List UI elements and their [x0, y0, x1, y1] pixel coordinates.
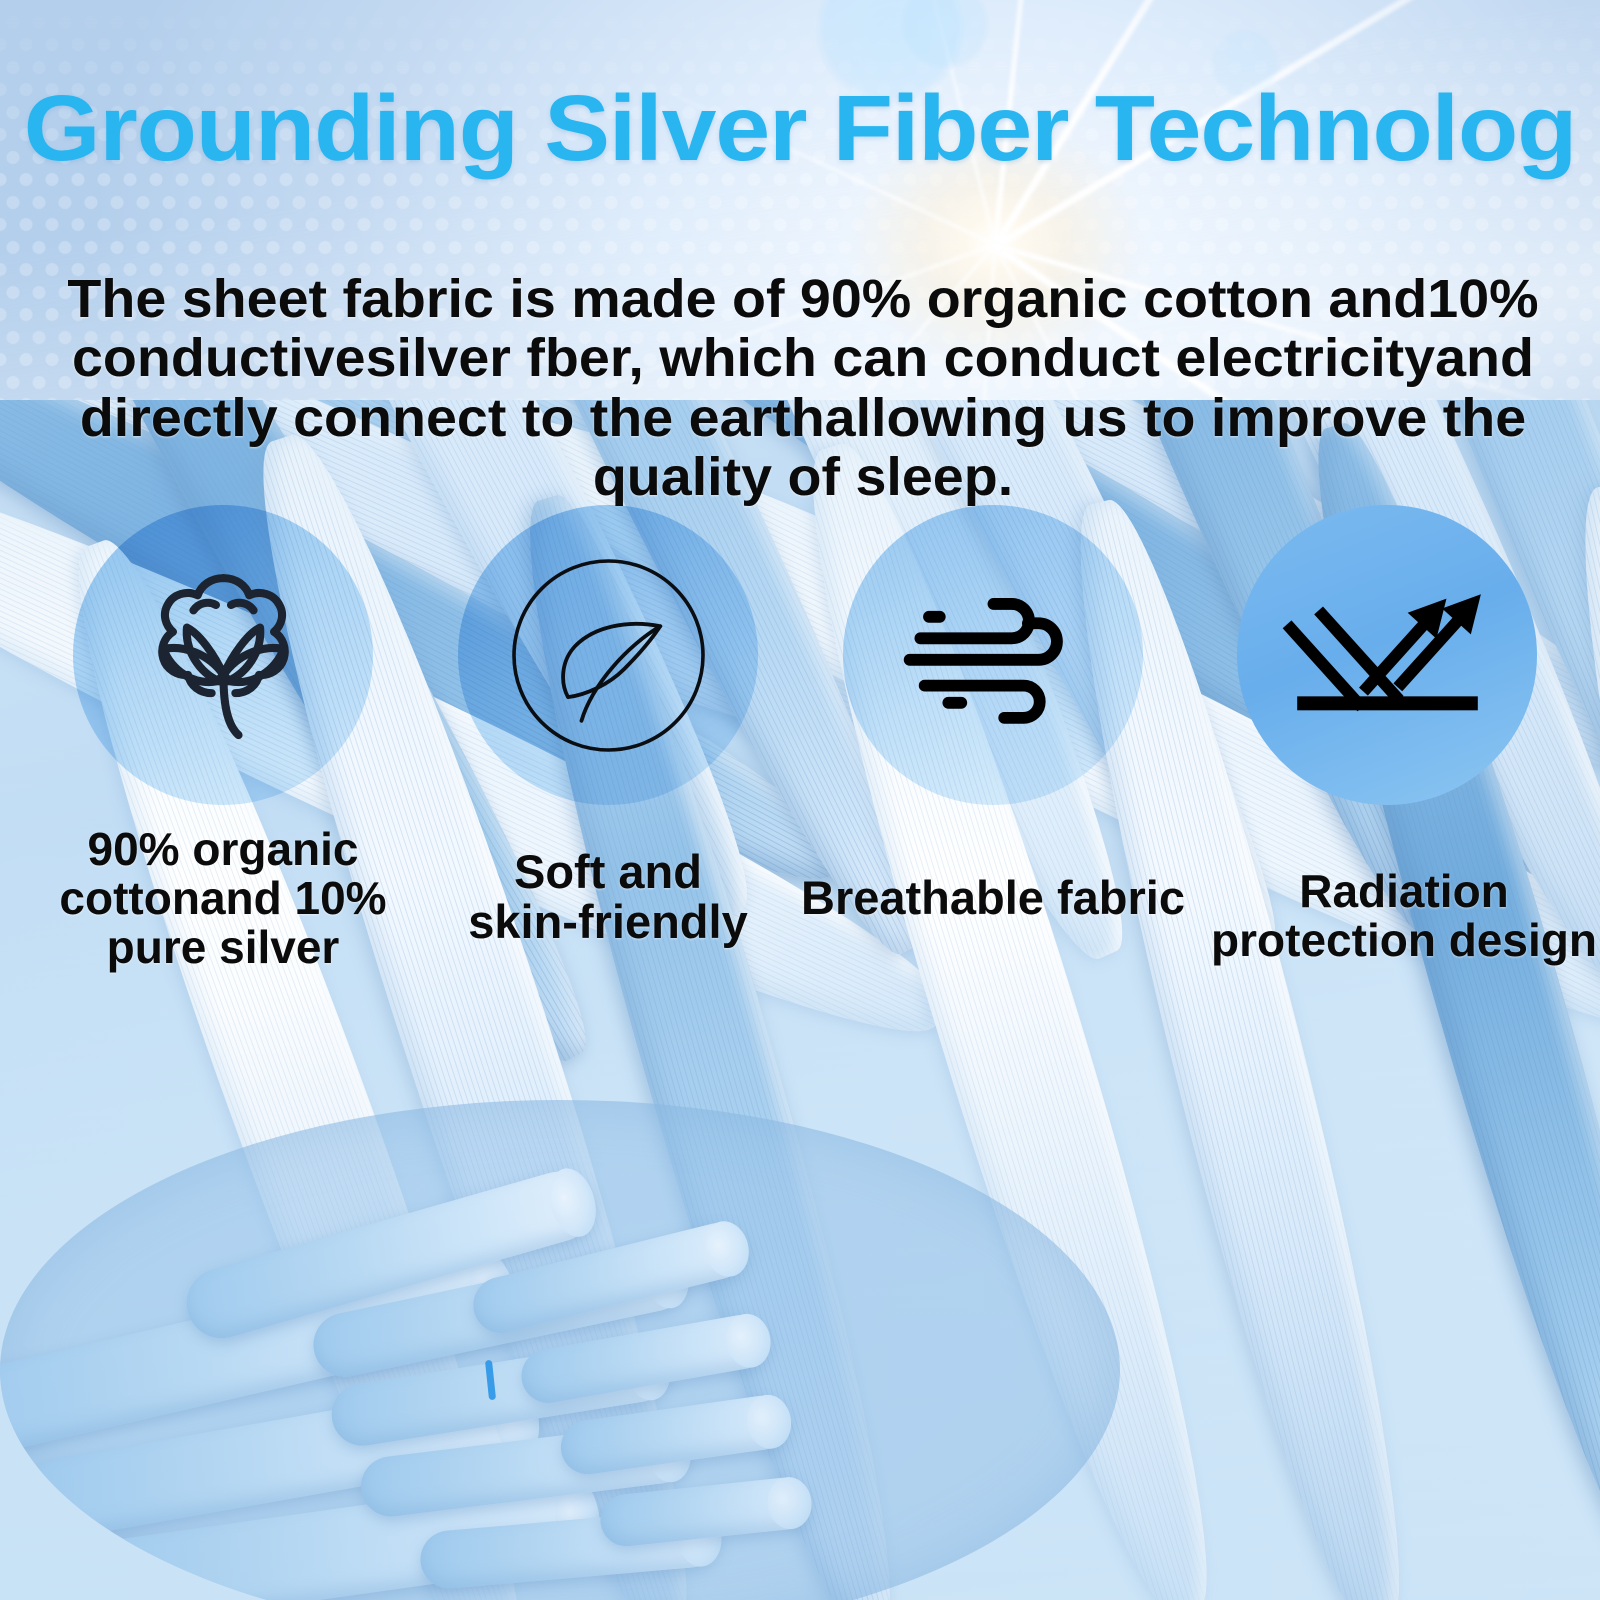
page-title: Grounding Silver Fiber Technolog	[0, 82, 1600, 175]
feature-label: Radiation protection design	[1204, 867, 1600, 965]
fiber-strand	[0, 1248, 522, 1458]
wind-airflow-icon	[843, 505, 1143, 805]
fiber-strand	[327, 1336, 673, 1450]
feature-label: Soft and skin-friendly	[443, 847, 773, 947]
radiation-reflection-icon	[1237, 505, 1537, 805]
fiber-strand	[178, 1163, 601, 1346]
fiber-strand	[358, 1420, 693, 1520]
feature-list: 90% organic cottonand 10% pure silver So…	[0, 495, 1600, 975]
fiber-strand	[517, 1311, 773, 1408]
fiber-strand	[17, 1375, 543, 1544]
fiber-strand	[307, 1241, 692, 1383]
fiber-strand	[467, 1217, 752, 1339]
leaf-in-circle-icon	[458, 505, 758, 805]
fiber-strand	[57, 1473, 604, 1600]
feature-label: Breathable fabric	[783, 873, 1203, 923]
fiber-bundle-inset	[0, 1100, 1120, 1600]
fiber-highlight-mark	[485, 1360, 496, 1401]
product-infographic: Grounding Silver Fiber Technolog The she…	[0, 0, 1600, 1600]
fiber-strand	[557, 1392, 792, 1477]
cotton-boll-icon	[73, 505, 373, 805]
feature-label: 90% organic cottonand 10% pure silver	[58, 825, 388, 971]
intro-paragraph: The sheet fabric is made of 90% organic …	[25, 270, 1580, 508]
fiber-strand	[598, 1475, 812, 1549]
fiber-strand	[418, 1507, 722, 1591]
